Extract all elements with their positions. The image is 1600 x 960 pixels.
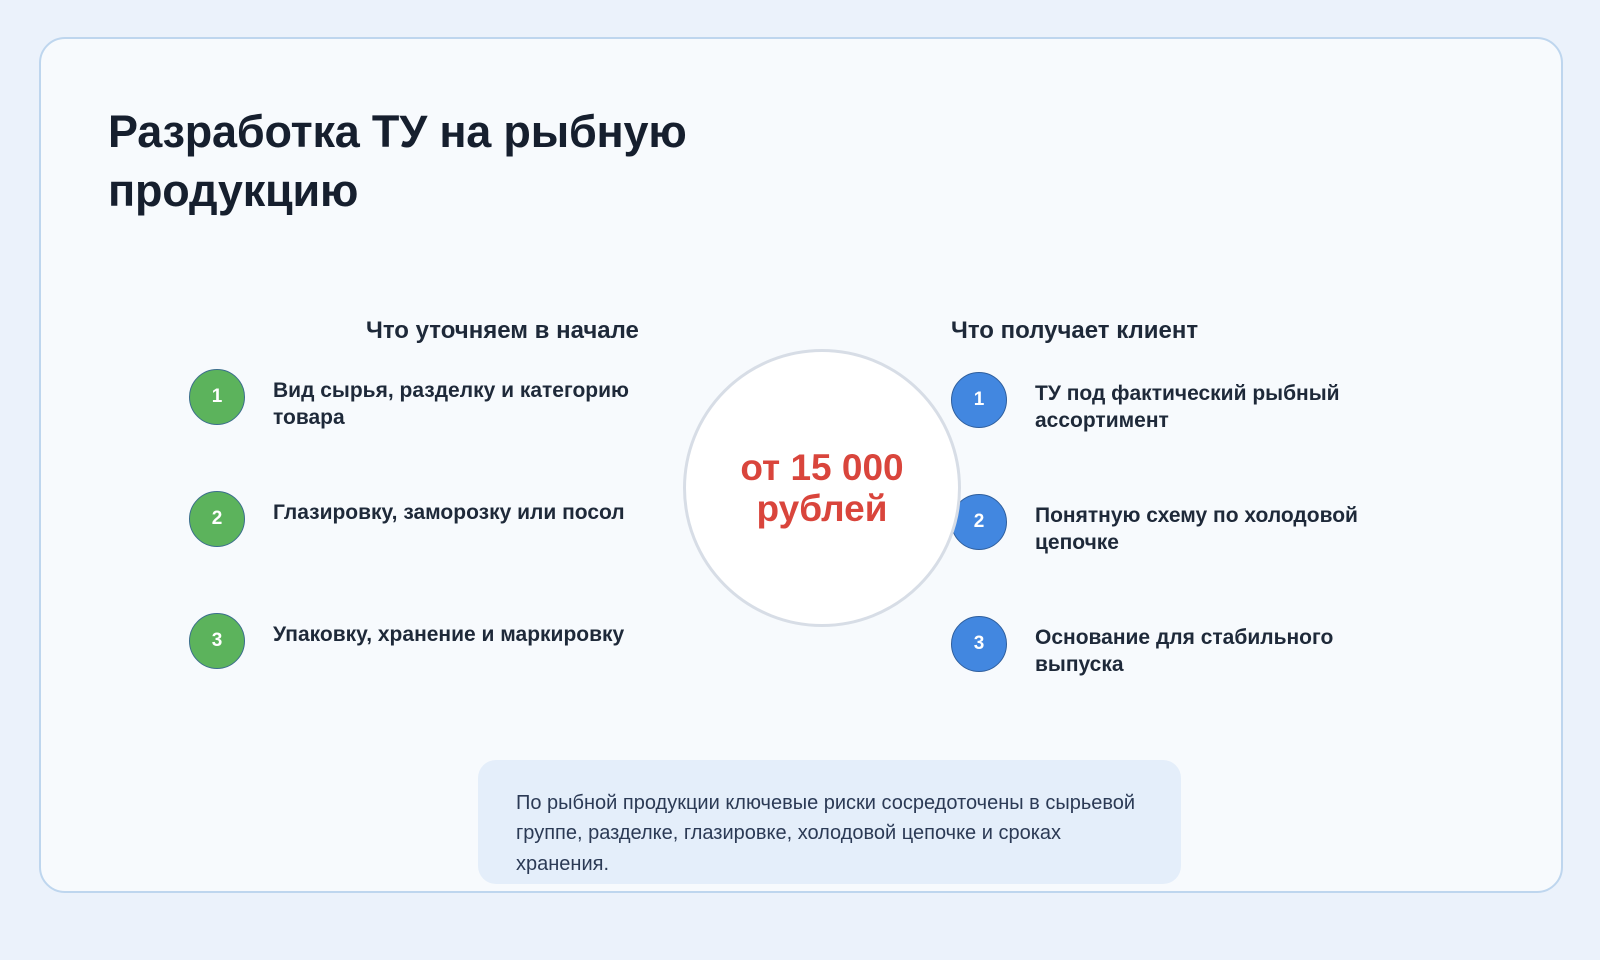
list-item-text: ТУ под фактический рыбный ассортимент bbox=[1035, 380, 1411, 435]
step-number-label: 2 bbox=[212, 508, 223, 530]
page-title: Разработка ТУ на рыбную продукцию bbox=[108, 102, 808, 221]
list-item: 1 ТУ под фактический рыбный ассортимент bbox=[951, 372, 1411, 494]
infographic-page: Разработка ТУ на рыбную продукцию Что ут… bbox=[0, 0, 1600, 960]
list-item: 2 Глазировку, заморозку или посол bbox=[189, 491, 649, 613]
content-card: Разработка ТУ на рыбную продукцию Что ут… bbox=[39, 37, 1563, 893]
list-item: 2 Понятную схему по холодовой цепочке bbox=[951, 494, 1411, 616]
step-number-label: 2 bbox=[974, 511, 985, 533]
list-item-text: Понятную схему по холодовой цепочке bbox=[1035, 502, 1411, 557]
price-circle: от 15 000 рублей bbox=[683, 349, 961, 627]
list-item: 3 Основание для стабильного выпуска bbox=[951, 616, 1411, 738]
step-number-label: 1 bbox=[974, 389, 985, 411]
list-item-text: Глазировку, заморозку или посол bbox=[273, 499, 625, 526]
list-item-text: Упаковку, хранение и маркировку bbox=[273, 621, 624, 648]
step-number-badge: 3 bbox=[951, 616, 1007, 672]
list-item-text: Вид сырья, разделку и категорию товара bbox=[273, 377, 643, 432]
step-number-badge: 3 bbox=[189, 613, 245, 669]
note-box: По рыбной продукции ключевые риски сосре… bbox=[478, 760, 1181, 884]
price-label: от 15 000 рублей bbox=[740, 447, 905, 530]
step-number-badge: 2 bbox=[189, 491, 245, 547]
right-items-list: 1 ТУ под фактический рыбный ассортимент … bbox=[951, 372, 1411, 738]
step-number-label: 3 bbox=[974, 633, 985, 655]
note-text: По рыбной продукции ключевые риски сосре… bbox=[516, 788, 1146, 879]
list-item: 1 Вид сырья, разделку и категорию товара bbox=[189, 369, 649, 491]
step-number-label: 3 bbox=[212, 630, 223, 652]
step-number-badge: 1 bbox=[951, 372, 1007, 428]
step-number-label: 1 bbox=[212, 386, 223, 408]
right-column-heading: Что получает клиент bbox=[951, 317, 1198, 345]
step-number-badge: 1 bbox=[189, 369, 245, 425]
left-column-heading: Что уточняем в начале bbox=[366, 317, 639, 345]
list-item-text: Основание для стабильного выпуска bbox=[1035, 624, 1411, 679]
list-item: 3 Упаковку, хранение и маркировку bbox=[189, 613, 649, 735]
left-items-list: 1 Вид сырья, разделку и категорию товара… bbox=[189, 369, 649, 735]
